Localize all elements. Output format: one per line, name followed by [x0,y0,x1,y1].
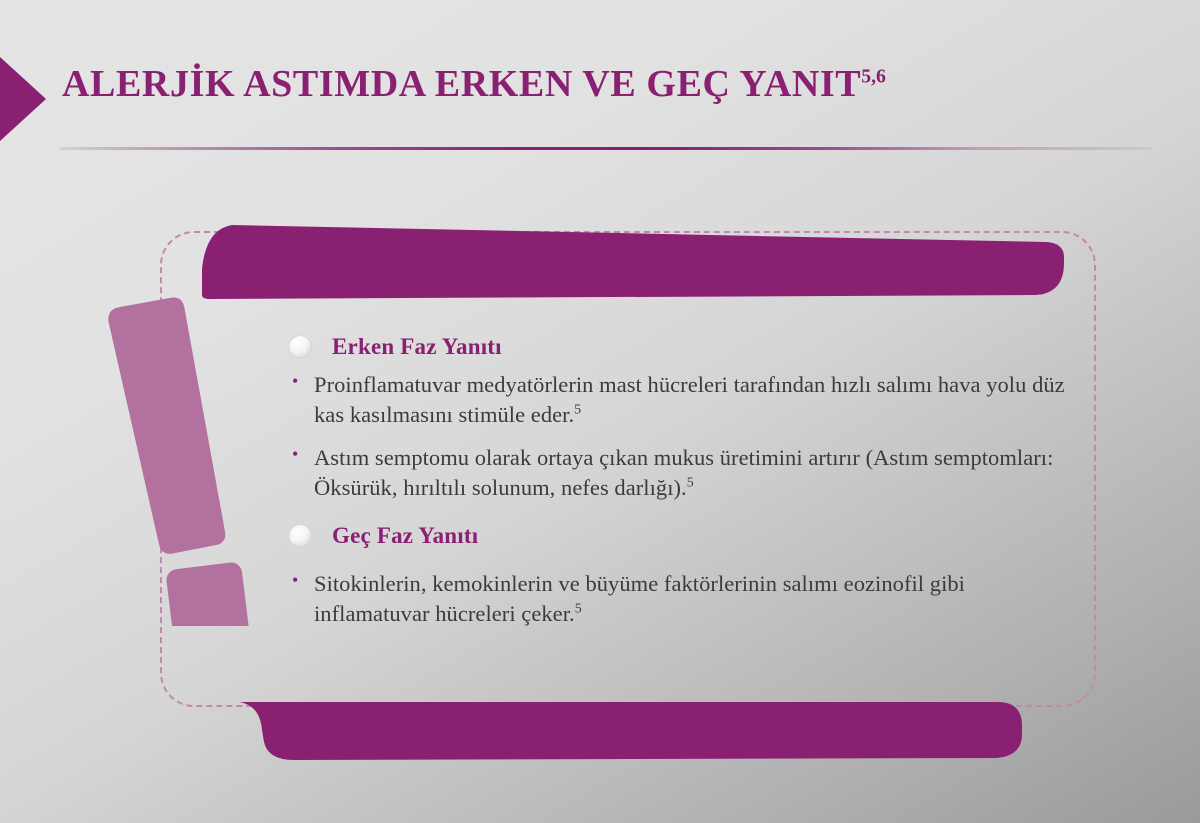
content-area: Erken Faz Yanıtı Proinflamatuvar medyatö… [286,330,1076,629]
section-heading-row: Erken Faz Yanıtı [286,330,1076,364]
arrow-right-icon [0,57,46,141]
list-item: Proinflamatuvar medyatörlerin mast hücre… [286,370,1076,430]
bullet-list: Sitokinlerin, kemokinlerin ve büyüme fak… [286,569,1076,629]
page-title: ALERJİK ASTIMDA ERKEN VE GEÇ YANIT5,6 [62,63,886,107]
page-title-superscript: 5,6 [861,65,886,87]
list-item: Sitokinlerin, kemokinlerin ve büyüme fak… [286,569,1076,629]
sphere-bullet-icon [286,334,312,360]
title-divider [60,147,1152,150]
list-item-text: Proinflamatuvar medyatörlerin mast hücre… [314,372,1065,427]
list-item-text: Sitokinlerin, kemokinlerin ve büyüme fak… [314,571,965,626]
sphere-bullet-icon [286,523,312,549]
bullet-list: Proinflamatuvar medyatörlerin mast hücre… [286,370,1076,503]
section-heading-row: Geç Faz Yanıtı [286,519,1076,553]
top-banner-shape [198,219,1066,301]
section-title: Erken Faz Yanıtı [332,334,502,360]
exclamation-mark-icon [104,296,254,626]
list-item-reference: 5 [687,475,694,490]
section-gec-faz: Geç Faz Yanıtı Sitokinlerin, kemokinleri… [286,519,1076,629]
slide-canvas: ALERJİK ASTIMDA ERKEN VE GEÇ YANIT5,6 [0,0,1200,823]
section-erken-faz: Erken Faz Yanıtı Proinflamatuvar medyatö… [286,330,1076,503]
bottom-banner-shape [234,700,1024,762]
section-title: Geç Faz Yanıtı [332,523,478,549]
page-title-text: ALERJİK ASTIMDA ERKEN VE GEÇ YANIT [62,63,861,105]
list-item-text: Astım semptomu olarak ortaya çıkan mukus… [314,445,1053,500]
list-item-reference: 5 [575,601,582,616]
list-item: Astım semptomu olarak ortaya çıkan mukus… [286,443,1076,503]
list-item-reference: 5 [574,402,581,417]
